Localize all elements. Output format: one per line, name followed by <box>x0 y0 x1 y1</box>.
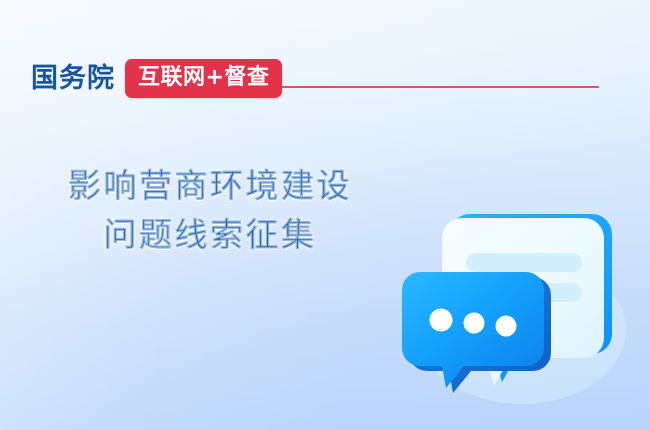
header: 国务院 互联网+督查 <box>0 56 650 100</box>
header-divider-rule <box>282 86 599 88</box>
message-text-bar <box>466 253 582 272</box>
speech-bubbles-illustration <box>398 208 630 404</box>
typing-dot <box>430 309 453 332</box>
banner: 国务院 互联网+督查 影响营商环境建设 问题线索征集 <box>0 0 650 430</box>
typing-dot <box>464 313 485 334</box>
page-title-line-2: 问题线索征集 <box>0 215 420 255</box>
organization-label: 国务院 <box>31 65 115 92</box>
page-title: 影响营商环境建设 问题线索征集 <box>0 166 420 256</box>
campaign-badge: 互联网+督查 <box>125 59 282 98</box>
page-title-line-1: 影响营商环境建设 <box>0 166 420 206</box>
typing-dot <box>496 316 517 337</box>
